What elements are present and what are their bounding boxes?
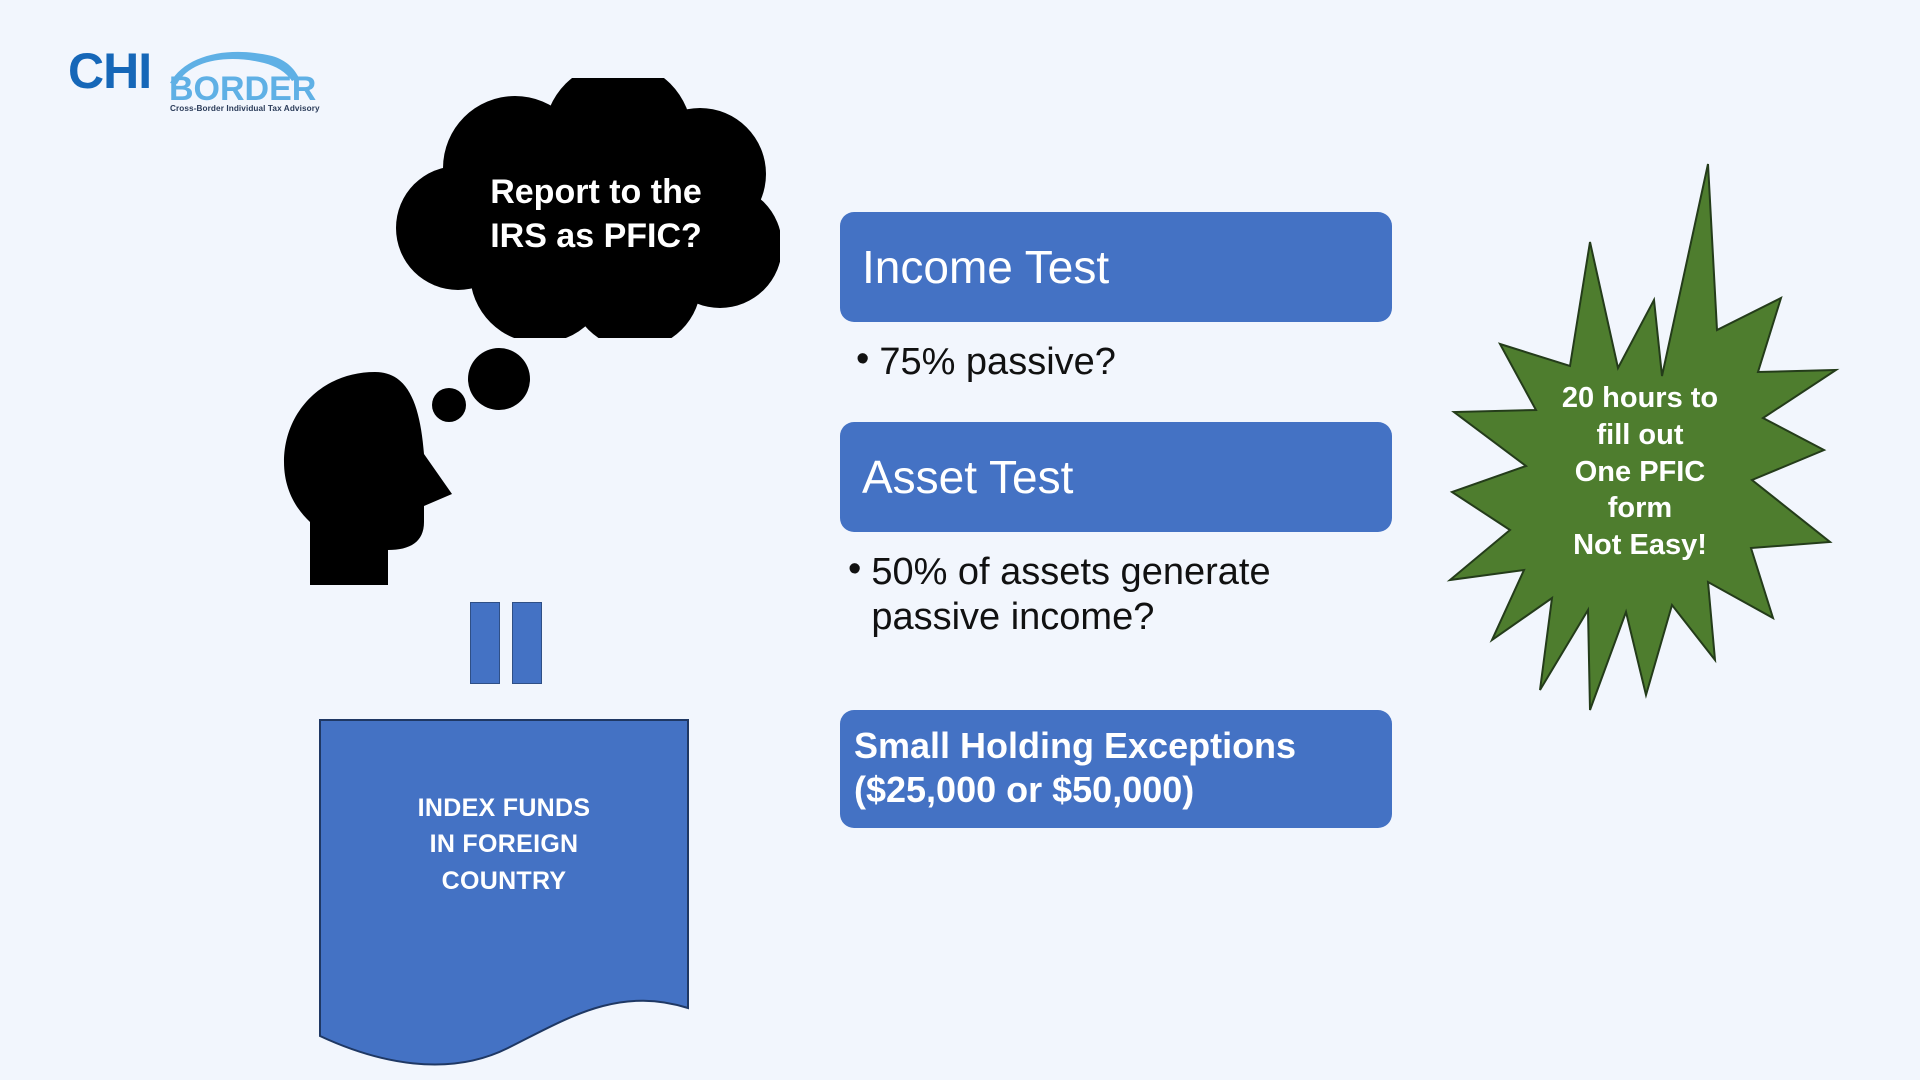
star-line-2: fill out bbox=[1440, 417, 1840, 454]
flag-line-2: IN FOREIGN bbox=[318, 826, 690, 862]
small-holding-exception-box[interactable]: Small Holding Exceptions ($25,000 or $50… bbox=[840, 710, 1392, 828]
asset-test-bullet: • 50% of assets generate passive income? bbox=[848, 550, 1400, 640]
star-line-4: form bbox=[1440, 490, 1840, 527]
asset-test-title: Asset Test bbox=[862, 450, 1073, 504]
tests-column: Income Test • 75% passive? Asset Test • … bbox=[840, 0, 1410, 1080]
exception-line-2: ($25,000 or $50,000) bbox=[854, 768, 1392, 812]
income-test-bullet: • 75% passive? bbox=[856, 340, 1396, 385]
logo-word-text: BORDER bbox=[169, 72, 316, 106]
logo-tagline: Cross-Border Individual Tax Advisory bbox=[170, 104, 320, 113]
thought-bubble-text: Report to the IRS as PFIC? bbox=[370, 78, 780, 338]
pause-bar-right bbox=[512, 602, 542, 684]
star-line-5: Not Easy! bbox=[1440, 527, 1840, 564]
slide-canvas: CHI BORDER Cross-Border Individual Tax A… bbox=[0, 0, 1920, 1080]
income-test-header[interactable]: Income Test bbox=[840, 212, 1392, 322]
asset-test-bullet-text: 50% of assets generate passive income? bbox=[871, 550, 1400, 640]
pause-bar-left bbox=[470, 602, 500, 684]
pause-bars-icon bbox=[470, 602, 542, 684]
star-line-1: 20 hours to bbox=[1440, 380, 1840, 417]
effort-starburst-label: 20 hours to fill out One PFIC form Not E… bbox=[1440, 380, 1840, 564]
asset-test-header[interactable]: Asset Test bbox=[840, 422, 1392, 532]
thought-bubble: Report to the IRS as PFIC? bbox=[370, 78, 780, 338]
logo-mark-text: CHI bbox=[68, 46, 151, 96]
star-line-3: One PFIC bbox=[1440, 454, 1840, 491]
thought-line-1: Report to the bbox=[490, 171, 702, 215]
brand-logo[interactable]: CHI BORDER Cross-Border Individual Tax A… bbox=[68, 42, 298, 120]
flag-line-1: INDEX FUNDS bbox=[318, 790, 690, 826]
thinking-head-icon bbox=[280, 370, 480, 590]
exception-line-1: Small Holding Exceptions bbox=[854, 724, 1392, 768]
bullet-dot-icon: • bbox=[848, 550, 861, 590]
thought-line-2: IRS as PFIC? bbox=[490, 215, 702, 259]
income-test-bullet-text: 75% passive? bbox=[879, 340, 1116, 385]
bullet-dot-icon: • bbox=[856, 340, 869, 380]
income-test-title: Income Test bbox=[862, 240, 1109, 294]
index-funds-label: INDEX FUNDS IN FOREIGN COUNTRY bbox=[318, 790, 690, 899]
flag-line-3: COUNTRY bbox=[318, 863, 690, 899]
